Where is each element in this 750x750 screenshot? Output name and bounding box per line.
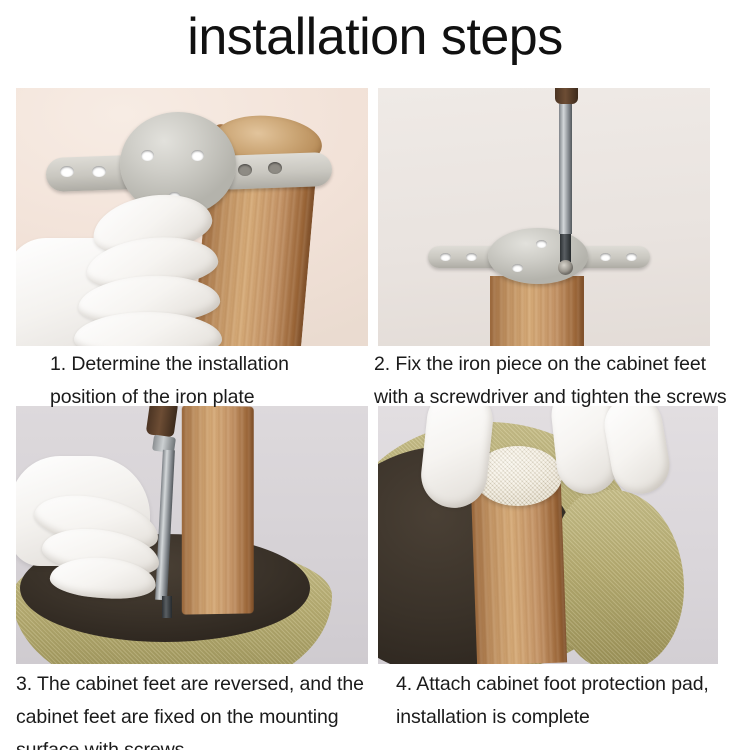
- step-1-photo: [16, 88, 368, 346]
- screwdriver-tip: [560, 234, 571, 262]
- step-4-photo: [378, 406, 718, 664]
- plate-hole: [626, 253, 637, 261]
- plate-hole: [191, 150, 204, 161]
- step-2-photo: [378, 88, 710, 346]
- plate-hole: [536, 240, 547, 248]
- screwdriver-shaft: [559, 104, 572, 234]
- screwdriver-handle: [555, 88, 578, 104]
- step-4-scene: [378, 406, 718, 664]
- mounting-plate-disc: [488, 228, 588, 284]
- step-3-caption: 3. The cabinet feet are reversed, and th…: [16, 668, 378, 750]
- page-title: installation steps: [0, 6, 750, 68]
- plate-hole: [141, 150, 154, 161]
- step-4-caption: 4. Attach cabinet foot protection pad, i…: [396, 668, 750, 734]
- wooden-leg: [182, 406, 254, 615]
- plate-hole: [60, 166, 74, 177]
- step-2-caption: 2. Fix the iron piece on the cabinet fee…: [374, 348, 750, 414]
- wooden-leg: [490, 276, 584, 346]
- screwdriver-tip: [162, 596, 172, 618]
- plate-hole: [600, 253, 611, 261]
- plate-hole: [440, 253, 451, 261]
- plate-hole: [92, 166, 106, 177]
- plate-hole: [512, 264, 523, 272]
- plate-hole: [268, 162, 282, 174]
- step-1-scene: [16, 88, 368, 346]
- step-1-caption: 1. Determine the installation position o…: [50, 348, 370, 414]
- plate-hole: [466, 253, 477, 261]
- plate-hole: [238, 164, 252, 176]
- step-2-scene: [378, 88, 710, 346]
- wooden-leg: [471, 482, 567, 664]
- installation-steps-infographic: installation steps: [0, 0, 750, 750]
- step-3-scene: [16, 406, 368, 664]
- screw: [558, 260, 573, 275]
- step-3-photo: [16, 406, 368, 664]
